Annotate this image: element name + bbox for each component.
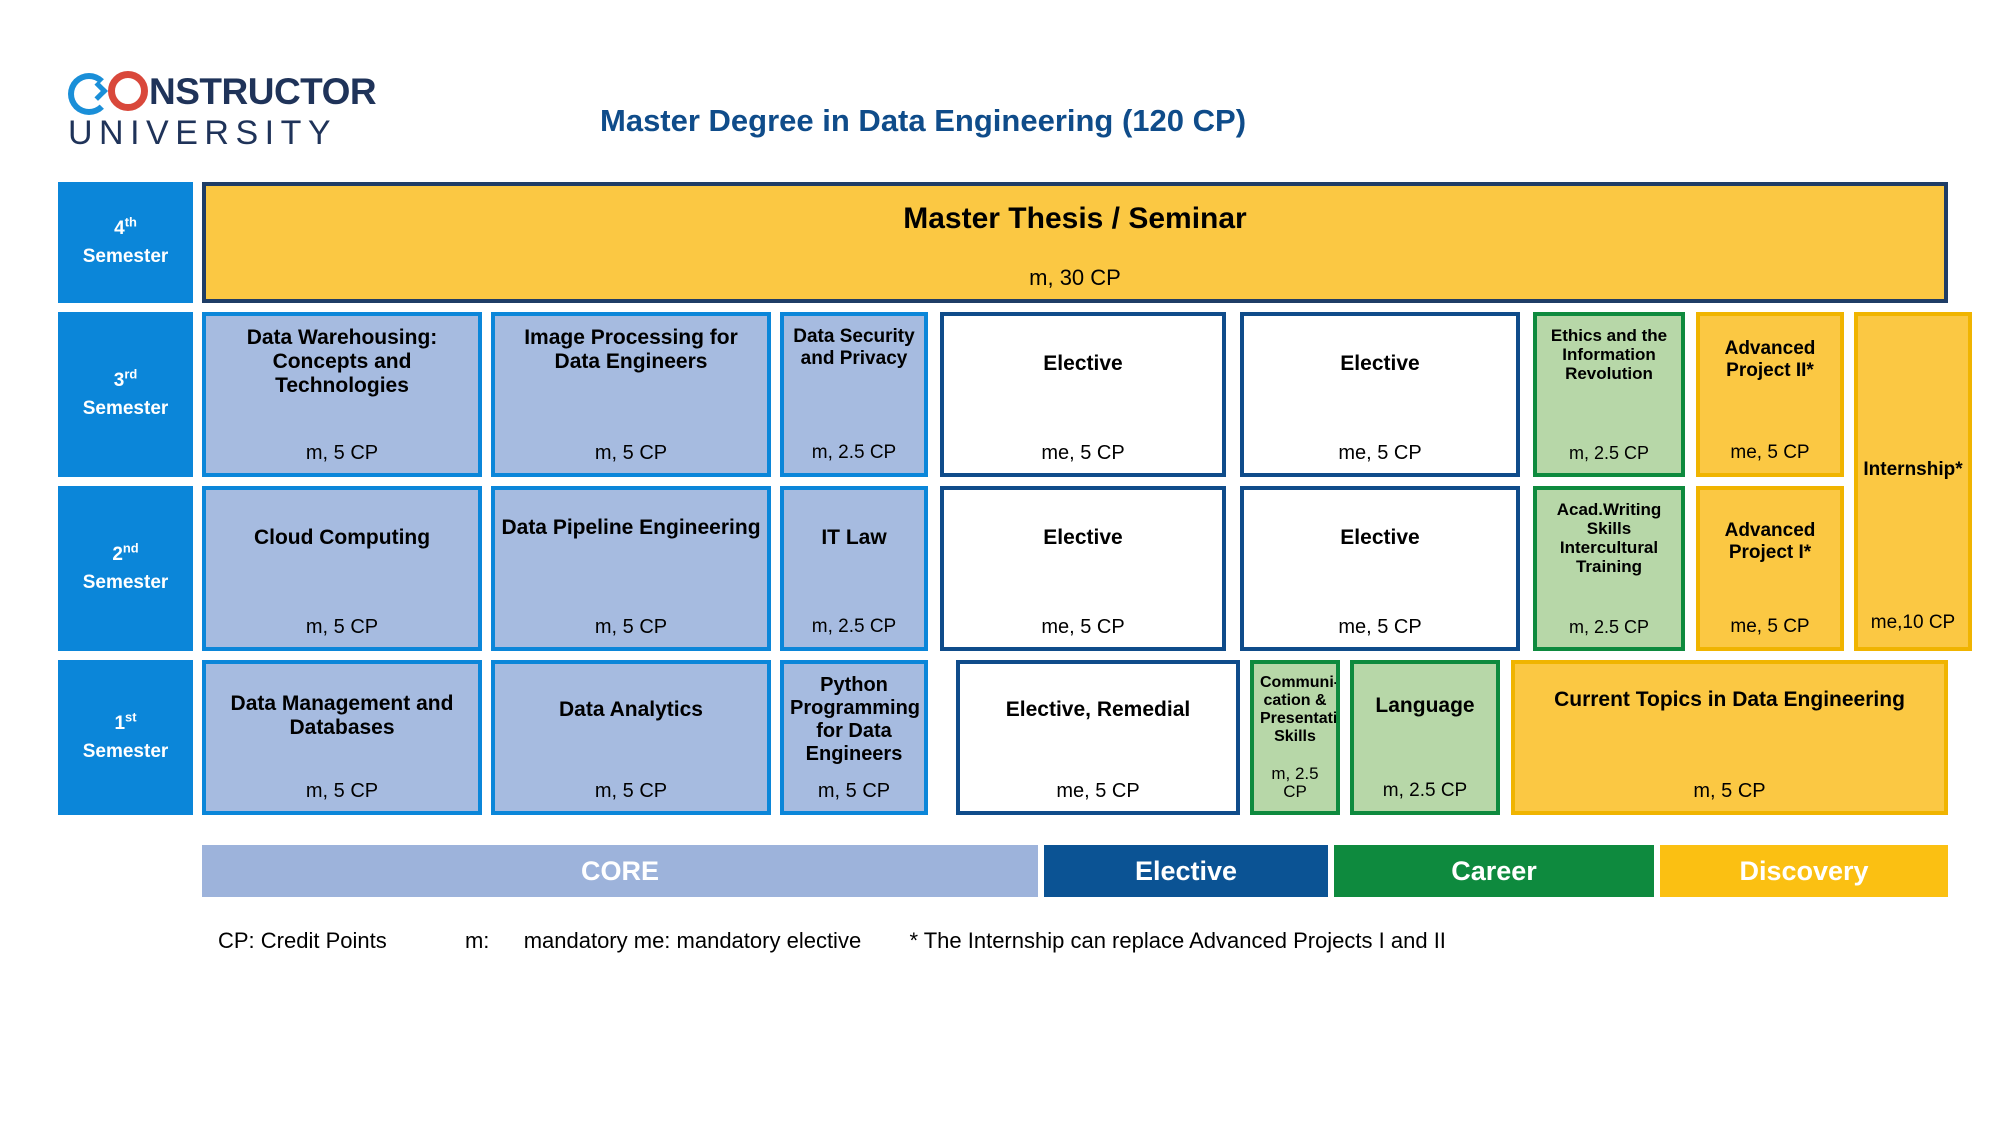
course-credits: m, 5 CP [1521, 780, 1938, 802]
course-credits: m, 5 CP [501, 780, 761, 802]
course-credits: m, 5 CP [501, 616, 761, 638]
course-credits: m, 2.5 CP [1543, 444, 1675, 464]
course-name: Master Thesis / Seminar [212, 202, 1938, 237]
course-name: Acad.Writing Skills Intercultural Traini… [1543, 500, 1675, 576]
course-card-image-processing[interactable]: Image Processing for Data Engineers m, 5… [491, 312, 771, 477]
course-card-advanced-project-1[interactable]: Advanced Project I* me, 5 CP [1696, 486, 1844, 651]
course-name: Ethics and the Information Revolution [1543, 326, 1675, 383]
logo-wordmark: NSTRUCTOR [68, 70, 398, 112]
semester-label-2: 2nd Semester [58, 486, 193, 651]
course-name: Cloud Computing [212, 526, 472, 550]
course-name: Python Programming for Data Engineers [790, 674, 918, 766]
logo-o-circle-icon [108, 71, 148, 111]
university-logo: NSTRUCTOR UNIVERSITY [68, 70, 398, 150]
course-credits: m, 2.5 CP [790, 617, 918, 638]
semester-row-3: 3rd Semester Data Warehousing: Concepts … [58, 312, 1948, 477]
course-credits: m, 2.5 CP [1360, 781, 1490, 802]
course-name: Communi-cation & Presentation Skills [1260, 674, 1330, 746]
legend-m-key: m: [465, 928, 489, 954]
semester-suffix-2: nd [123, 541, 139, 556]
course-credits: me, 5 CP [1250, 616, 1510, 638]
page-title: Master Degree in Data Engineering (120 C… [600, 103, 1246, 139]
semester-row-1: 1st Semester Data Management and Databas… [58, 660, 1948, 815]
course-credits: me, 5 CP [1250, 442, 1510, 464]
course-credits: me, 5 CP [966, 780, 1230, 802]
course-name: Internship* [1864, 326, 1962, 613]
logo-c-chevron-icon [68, 73, 104, 109]
semester-ordinal-3: 3 [114, 370, 125, 391]
semester-row-body-4: Master Thesis / Seminar m, 30 CP [202, 182, 1948, 303]
course-card-python-programming[interactable]: Python Programming for Data Engineers m,… [780, 660, 928, 815]
course-name: Language [1360, 694, 1490, 718]
course-name: Elective [1250, 526, 1510, 550]
footer-legend: CP: Credit Points m: mandatory me: manda… [218, 928, 1446, 954]
course-card-communication-presentation-skills[interactable]: Communi-cation & Presentation Skills m, … [1250, 660, 1340, 815]
semester-ordinal-2: 2 [112, 544, 123, 565]
course-credits: m, 5 CP [212, 442, 472, 464]
legend-asterisk-note: * The Internship can replace Advanced Pr… [909, 928, 1445, 954]
semester-label-4: 4th Semester [58, 182, 193, 303]
course-credits: m, 30 CP [212, 266, 1938, 290]
course-credits: m, 2.5 CP [790, 443, 918, 464]
course-card-data-pipeline-engineering[interactable]: Data Pipeline Engineering m, 5 CP [491, 486, 771, 651]
course-card-elective-3b[interactable]: Elective me, 5 CP [1240, 312, 1520, 477]
course-card-ethics-information-revolution[interactable]: Ethics and the Information Revolution m,… [1533, 312, 1685, 477]
course-name: Elective, Remedial [966, 698, 1230, 722]
course-card-internship[interactable]: Internship* me,10 CP [1854, 312, 1972, 651]
course-credits: me, 5 CP [950, 442, 1216, 464]
semester-label-1: 1st Semester [58, 660, 193, 815]
course-credits: m, 5 CP [212, 780, 472, 802]
course-name: Data Warehousing: Concepts and Technolog… [212, 326, 472, 398]
course-name: Advanced Project II* [1706, 338, 1834, 382]
semester-row-4: 4th Semester Master Thesis / Seminar m, … [58, 182, 1948, 303]
course-credits: me, 5 CP [950, 616, 1216, 638]
course-credits: m, 2.5 CP [1543, 618, 1675, 638]
semester-word-4: Semester [83, 243, 169, 271]
course-name: IT Law [790, 526, 918, 550]
course-name: Data Security and Privacy [790, 326, 918, 370]
course-credits: m, 5 CP [212, 616, 472, 638]
semester-suffix-3: rd [124, 367, 137, 382]
category-elective[interactable]: Elective [1044, 845, 1328, 897]
course-credits: me, 5 CP [1706, 617, 1834, 638]
course-name: Data Management and Databases [212, 692, 472, 740]
category-legend-bar: CORE Elective Career Discovery [202, 845, 1948, 897]
category-core[interactable]: CORE [202, 845, 1038, 897]
semester-ordinal-1: 1 [114, 713, 125, 734]
course-credits: m, 2.5 CP [1260, 765, 1330, 802]
course-name: Image Processing for Data Engineers [501, 326, 761, 374]
course-card-advanced-project-2[interactable]: Advanced Project II* me, 5 CP [1696, 312, 1844, 477]
semester-suffix-1: st [125, 710, 136, 725]
semester-word-1: Semester [83, 738, 169, 766]
course-card-elective-remedial[interactable]: Elective, Remedial me, 5 CP [956, 660, 1240, 815]
semester-suffix-4: th [125, 215, 137, 230]
course-card-data-management-databases[interactable]: Data Management and Databases m, 5 CP [202, 660, 482, 815]
course-card-academic-writing-intercultural[interactable]: Acad.Writing Skills Intercultural Traini… [1533, 486, 1685, 651]
course-card-language[interactable]: Language m, 2.5 CP [1350, 660, 1500, 815]
course-credits: me,10 CP [1864, 613, 1962, 638]
semester-row-2: 2nd Semester Cloud Computing m, 5 CP Dat… [58, 486, 1948, 651]
course-credits: m, 5 CP [790, 780, 918, 802]
course-card-current-topics-data-engineering[interactable]: Current Topics in Data Engineering m, 5 … [1511, 660, 1948, 815]
semester-label-3: 3rd Semester [58, 312, 193, 477]
semester-word-2: Semester [83, 569, 169, 597]
course-card-data-warehousing[interactable]: Data Warehousing: Concepts and Technolog… [202, 312, 482, 477]
course-card-data-analytics[interactable]: Data Analytics m, 5 CP [491, 660, 771, 815]
course-card-it-law[interactable]: IT Law m, 2.5 CP [780, 486, 928, 651]
semester-row-body-3: Data Warehousing: Concepts and Technolog… [202, 312, 1972, 477]
legend-m-description: mandatory me: mandatory elective [524, 928, 862, 954]
course-card-data-security-privacy[interactable]: Data Security and Privacy m, 2.5 CP [780, 312, 928, 477]
legend-cp: CP: Credit Points [218, 928, 387, 954]
course-card-cloud-computing[interactable]: Cloud Computing m, 5 CP [202, 486, 482, 651]
semester-row-body-2: Cloud Computing m, 5 CP Data Pipeline En… [202, 486, 1972, 651]
course-card-elective-2b[interactable]: Elective me, 5 CP [1240, 486, 1520, 651]
course-card-elective-2a[interactable]: Elective me, 5 CP [940, 486, 1226, 651]
course-card-master-thesis[interactable]: Master Thesis / Seminar m, 30 CP [202, 182, 1948, 303]
course-name: Elective [1250, 352, 1510, 376]
course-credits: m, 5 CP [501, 442, 761, 464]
course-name: Data Analytics [501, 698, 761, 722]
course-card-elective-3a[interactable]: Elective me, 5 CP [940, 312, 1226, 477]
semester-ordinal-4: 4 [114, 218, 125, 239]
semester-row-body-1: Data Management and Databases m, 5 CP Da… [202, 660, 1948, 815]
semester-word-3: Semester [83, 395, 169, 423]
logo-university-text: UNIVERSITY [68, 116, 398, 150]
curriculum-grid: 4th Semester Master Thesis / Seminar m, … [58, 182, 1948, 815]
course-credits: me, 5 CP [1706, 443, 1834, 464]
course-name: Elective [950, 526, 1216, 550]
logo-constructor-text: NSTRUCTOR [149, 73, 376, 110]
course-name: Advanced Project I* [1706, 520, 1834, 564]
course-name: Elective [950, 352, 1216, 376]
category-career[interactable]: Career [1334, 845, 1654, 897]
course-name: Current Topics in Data Engineering [1521, 688, 1938, 712]
category-discovery[interactable]: Discovery [1660, 845, 1948, 897]
course-name: Data Pipeline Engineering [501, 516, 761, 540]
